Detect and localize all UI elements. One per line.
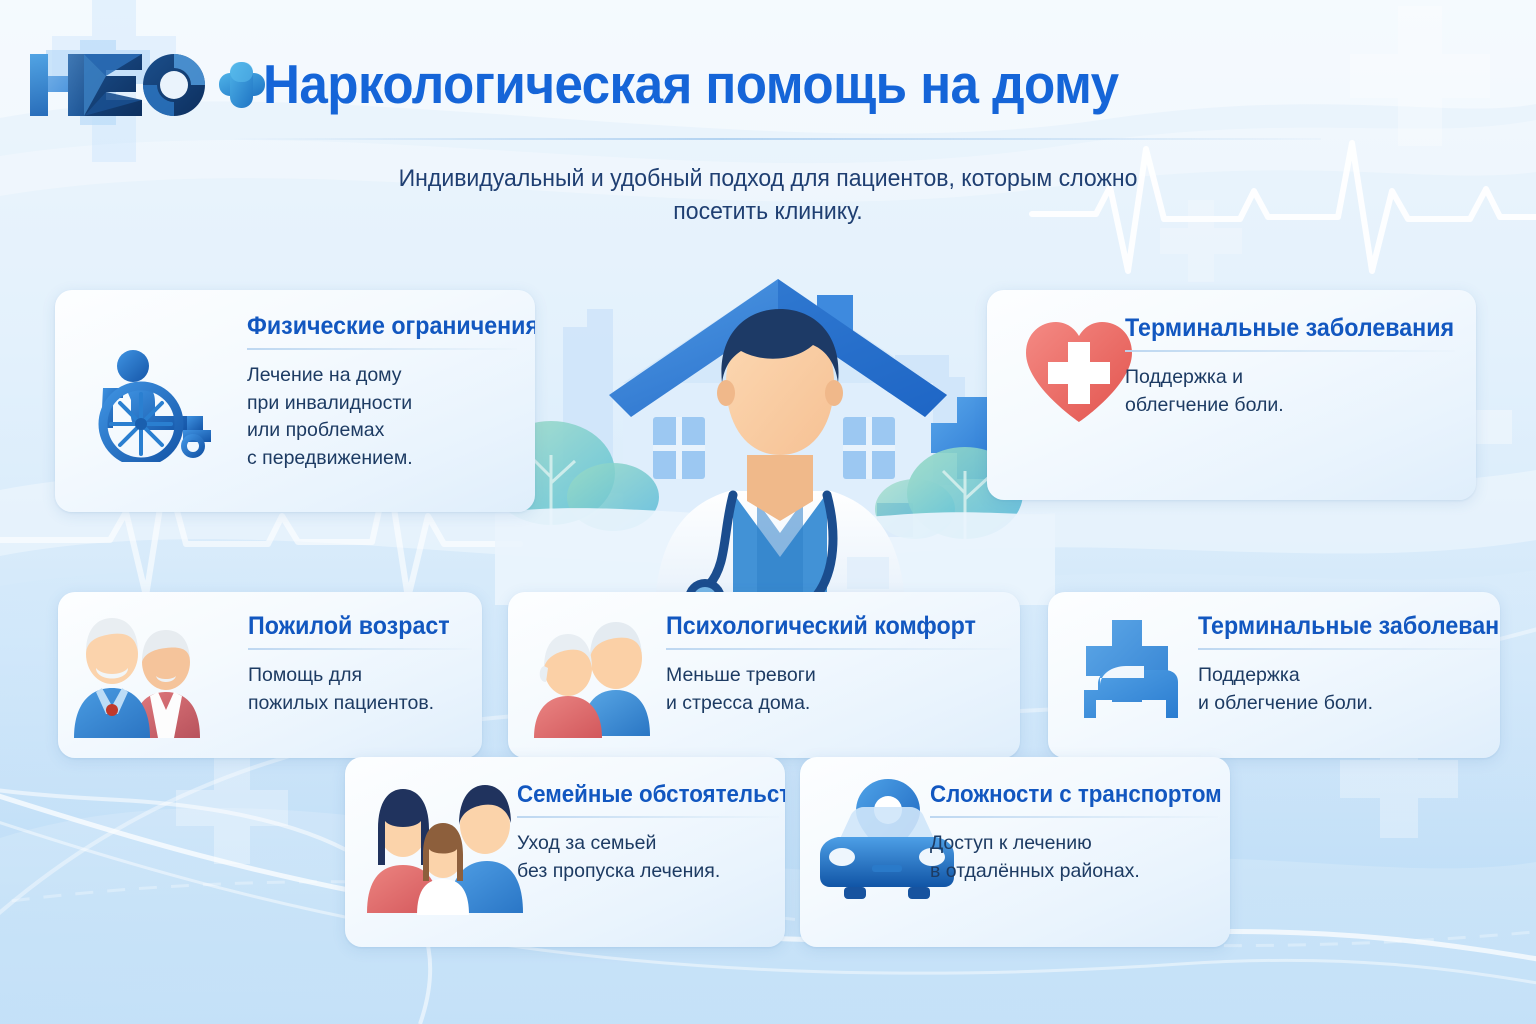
page-header: Наркологическая помощь на дому Индивидуа…: [0, 0, 1536, 150]
desc-line: в отдалённых районах.: [930, 858, 1218, 886]
desc-line: и стресса дома.: [666, 690, 1012, 718]
desc-line: при инвалидности: [247, 390, 517, 418]
card-description: Уход за семьей без пропуска лечения.: [517, 830, 779, 885]
desc-line: Лечение на дому: [247, 362, 517, 390]
desc-line: Доступ к лечению: [930, 830, 1218, 858]
desc-line: и облегчение боли.: [1198, 690, 1498, 718]
card-divider: [517, 816, 779, 818]
card-title: Терминальные заболевания: [1198, 614, 1477, 639]
card-title: Психологический комфорт: [666, 614, 988, 639]
card-description: Помощь для пожилых пациентов.: [248, 662, 472, 717]
infographic-canvas: Наркологическая помощь на дому Индивидуа…: [0, 0, 1536, 1024]
card-elderly-age[interactable]: Пожилой возраст Помощь для пожилых пацие…: [58, 592, 482, 758]
card-description: Поддержка и облегчение боли.: [1198, 662, 1498, 717]
subtitle-line-1: Индивидуальный и удобный подход для паци…: [288, 163, 1248, 196]
card-divider: [666, 648, 1012, 650]
card-terminal-bed-body: Терминальные заболевания Поддержка и обл…: [1198, 614, 1498, 717]
card-title: Сложности с транспортом: [930, 783, 1198, 807]
desc-line: пожилых пациентов.: [248, 690, 472, 718]
family-icon: [365, 771, 525, 916]
desc-line: облегчение боли.: [1125, 392, 1455, 420]
desc-line: Поддержка и: [1125, 364, 1455, 392]
card-elderly-body: Пожилой возраст Помощь для пожилых пацие…: [248, 614, 472, 717]
wheelchair-icon: [83, 312, 233, 462]
card-description: Меньше тревоги и стресса дома.: [666, 662, 1012, 717]
subtitle-line-2: посетить клинику.: [288, 196, 1248, 229]
card-terminal-heart-body: Терминальные заболевания Поддержка и обл…: [1125, 316, 1455, 419]
card-terminal-illness-bed[interactable]: Терминальные заболевания Поддержка и обл…: [1048, 592, 1500, 758]
heart-with-cross-icon: [1020, 314, 1138, 426]
card-family-circumstances[interactable]: Семейные обстоятельства Уход за семьей б…: [345, 757, 785, 947]
page-title: Наркологическая помощь на дому: [263, 52, 1119, 116]
desc-line: Меньше тревоги: [666, 662, 1012, 690]
card-transport-body: Сложности с транспортом Доступ к лечению…: [930, 783, 1218, 885]
card-title: Физические ограничения: [247, 314, 498, 339]
card-transport-difficulties[interactable]: Сложности с транспортом Доступ к лечению…: [800, 757, 1230, 947]
card-physical-limitations[interactable]: Физические ограничения Лечение на дому п…: [55, 290, 535, 512]
card-title: Семейные обстоятельства: [517, 783, 761, 807]
card-description: Доступ к лечению в отдалённых районах.: [930, 830, 1218, 885]
doctor-at-home-illustration: [495, 265, 1055, 605]
header-divider: [233, 138, 1321, 140]
card-divider: [1198, 648, 1498, 650]
two-people-icon: [530, 606, 660, 741]
card-divider: [1125, 350, 1455, 352]
desc-line: или проблемах: [247, 417, 517, 445]
hospital-bed-cross-icon: [1070, 608, 1192, 732]
page-subtitle: Индивидуальный и удобный подход для паци…: [288, 163, 1248, 228]
desc-line: Помощь для: [248, 662, 472, 690]
card-comfort-body: Психологический комфорт Меньше тревоги и…: [666, 614, 1012, 717]
card-description: Поддержка и облегчение боли.: [1125, 364, 1455, 419]
desc-line: Уход за семьей: [517, 830, 779, 858]
card-divider: [930, 816, 1218, 818]
card-terminal-illness-heart[interactable]: Терминальные заболевания Поддержка и обл…: [987, 290, 1476, 500]
card-physical-body: Физические ограничения Лечение на дому п…: [247, 314, 517, 473]
desc-line: без пропуска лечения.: [517, 858, 779, 886]
card-title: Терминальные заболевания: [1125, 316, 1432, 341]
card-divider: [247, 348, 517, 350]
elderly-couple-icon: [70, 606, 210, 746]
brand-logo[interactable]: [22, 40, 267, 125]
card-psychological-comfort[interactable]: Психологический комфорт Меньше тревоги и…: [508, 592, 1020, 758]
card-family-body: Семейные обстоятельства Уход за семьей б…: [517, 783, 779, 885]
card-title: Пожилой возраст: [248, 614, 456, 639]
card-description: Лечение на дому при инвалидности или про…: [247, 362, 517, 473]
desc-line: Поддержка: [1198, 662, 1498, 690]
card-divider: [248, 648, 472, 650]
desc-line: с передвижением.: [247, 445, 517, 473]
